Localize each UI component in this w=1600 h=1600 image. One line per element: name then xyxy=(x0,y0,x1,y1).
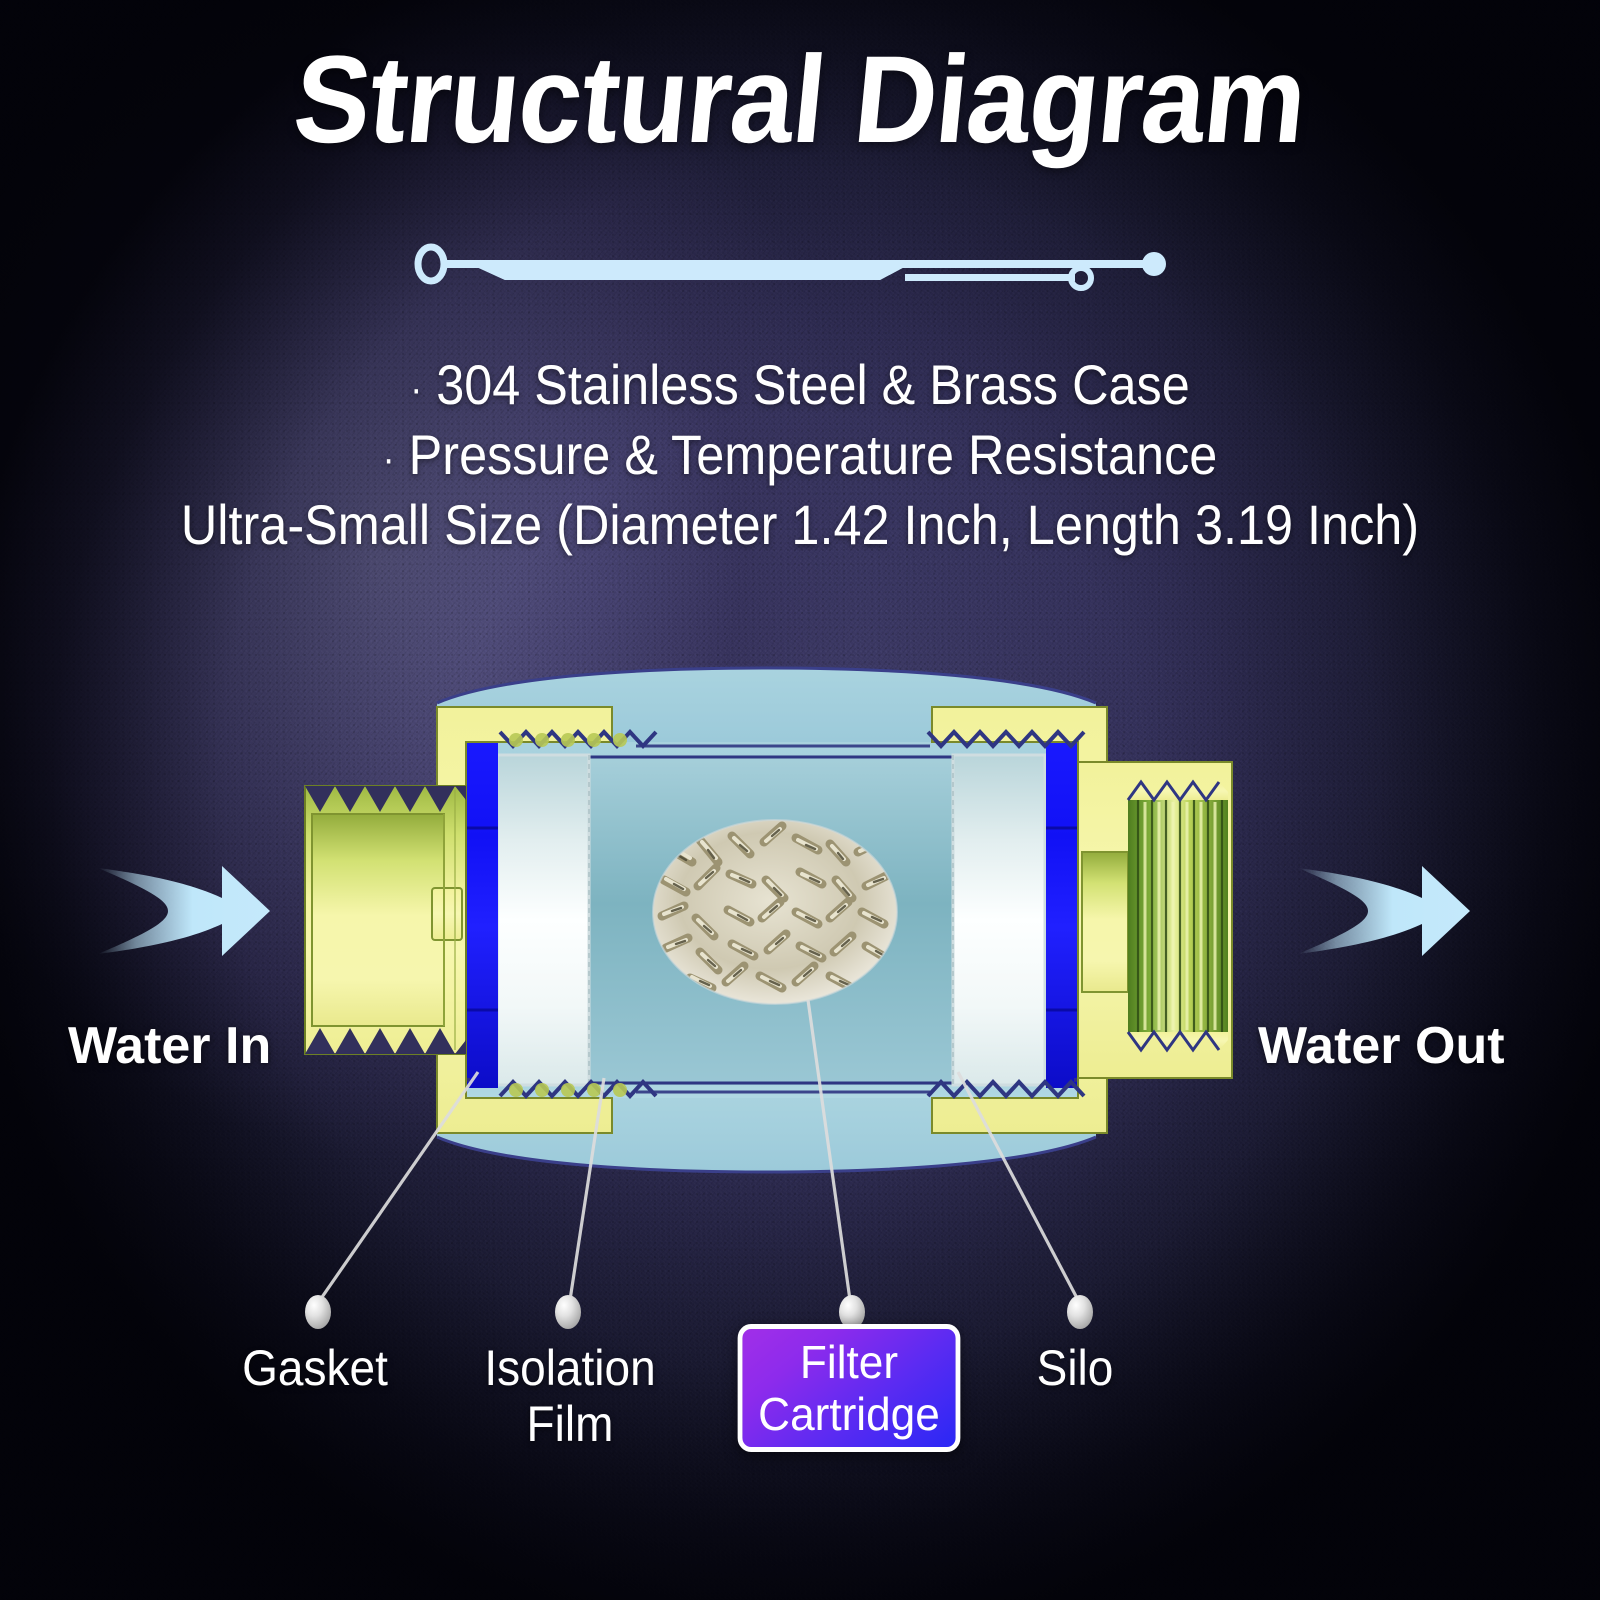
callout-isolation-line1: Isolation xyxy=(450,1340,689,1396)
callout-label-silo: Silo xyxy=(969,1340,1181,1396)
page-title: Structural Diagram xyxy=(58,38,1542,162)
spec-text-2: Pressure & Temperature Resistance xyxy=(409,423,1218,486)
water-in-label: Water In xyxy=(68,1016,271,1076)
water-out-label: Water Out xyxy=(1258,1016,1505,1076)
poster-canvas: Structural Diagram · 304 Stainless Steel… xyxy=(0,0,1600,1600)
spec-line-1: · 304 Stainless Steel & Brass Case xyxy=(80,352,1520,422)
callout-label-gasket: Gasket xyxy=(195,1340,434,1396)
ornamental-divider-icon xyxy=(0,238,1600,294)
bullet-icon: · xyxy=(383,437,395,481)
callout-badge-filter-cartridge[interactable]: Filter Cartridge xyxy=(738,1324,961,1452)
spec-text-1: 304 Stainless Steel & Brass Case xyxy=(436,353,1190,416)
spec-line-2: · Pressure & Temperature Resistance xyxy=(80,422,1520,492)
spec-line-3: Ultra-Small Size (Diameter 1.42 Inch, Le… xyxy=(80,492,1520,558)
bullet-icon: · xyxy=(410,367,422,411)
spec-list: · 304 Stainless Steel & Brass Case · Pre… xyxy=(0,352,1600,558)
callout-filter-line1: Filter xyxy=(800,1336,898,1388)
callout-label-isolation: Isolation Film xyxy=(450,1340,689,1452)
callout-filter-line2: Cartridge xyxy=(758,1388,940,1440)
spec-text-3: Ultra-Small Size (Diameter 1.42 Inch, Le… xyxy=(181,493,1419,556)
callout-isolation-line2: Film xyxy=(450,1396,689,1452)
